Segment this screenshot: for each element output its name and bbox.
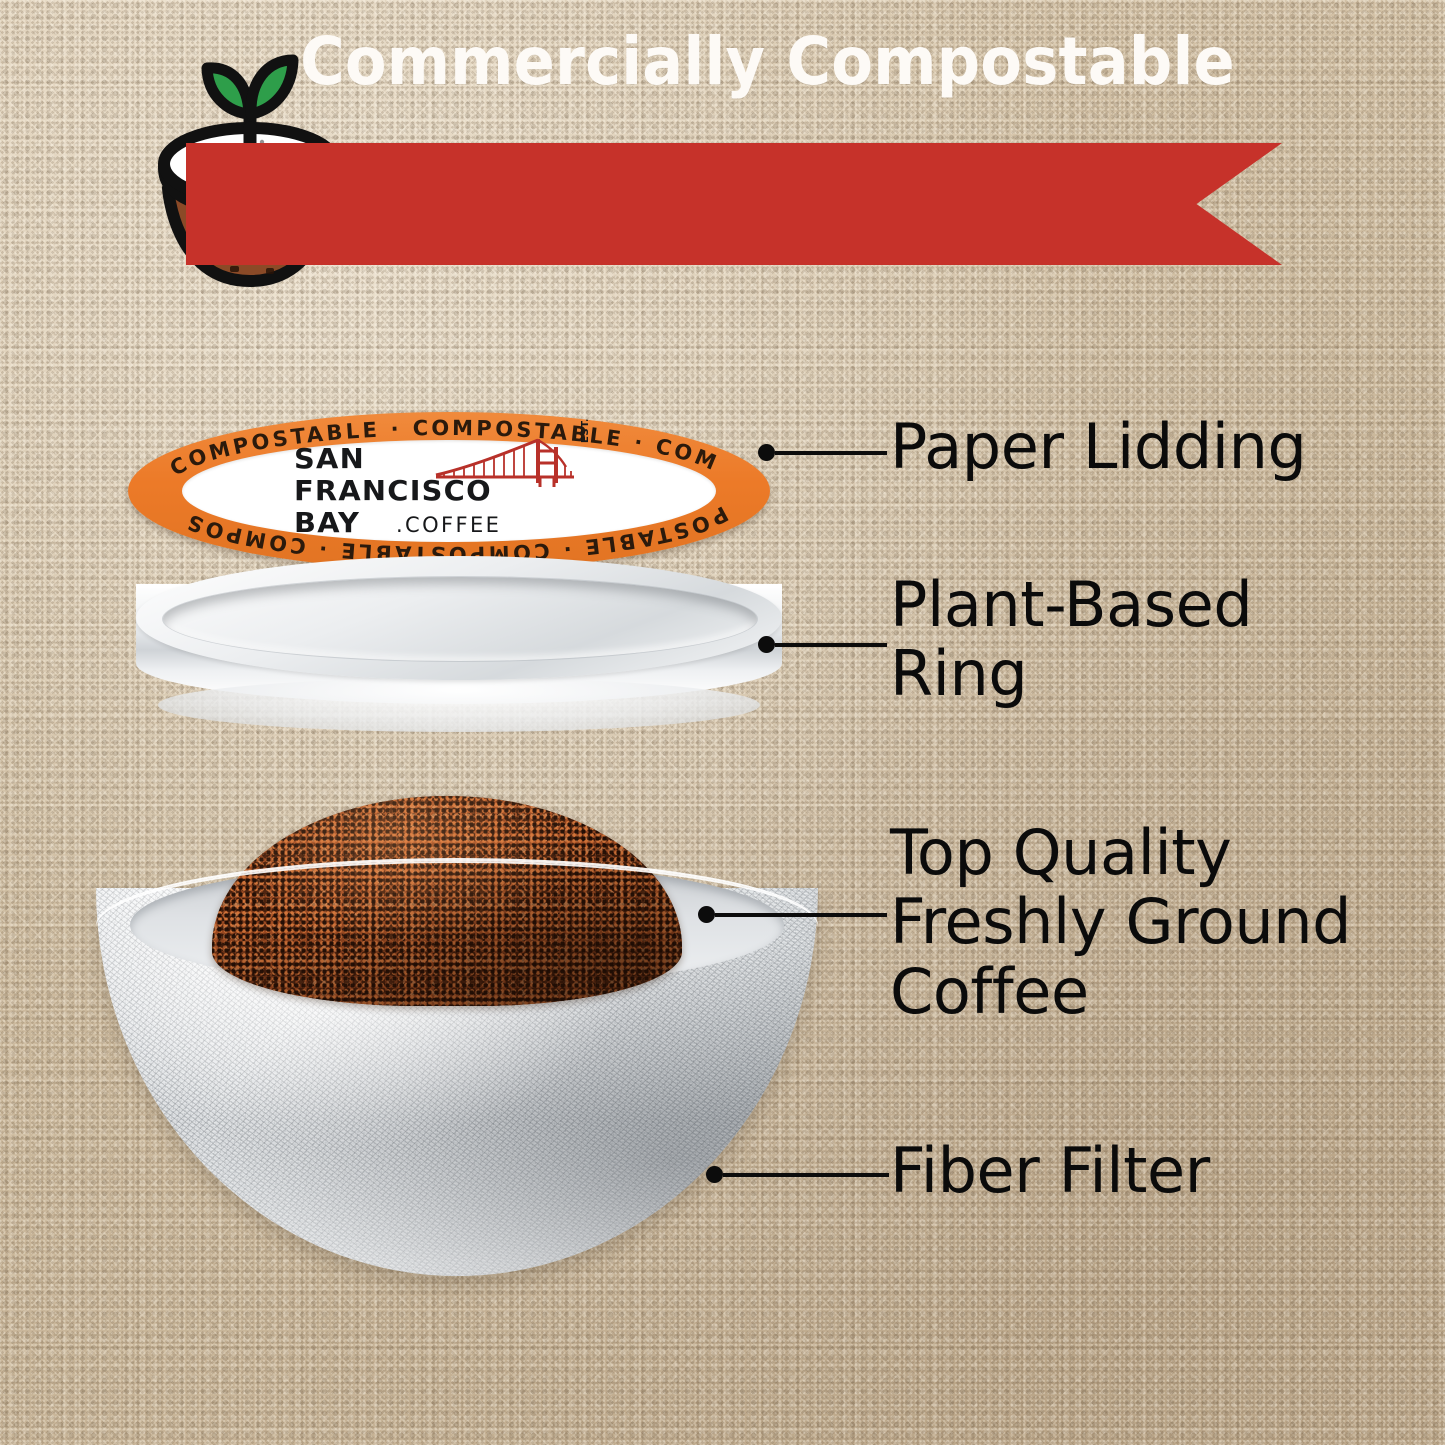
lid-orange-ring: COMPOSTABLE · COMPOSTABLE · COM POSTABLE… (128, 412, 770, 570)
logo-established: EST. 1979 (580, 412, 591, 443)
plant-based-ring (136, 556, 782, 732)
banner-title: Commercially Compostable (233, 0, 1303, 122)
callout-dot-paper-lidding (758, 444, 775, 461)
callout-leader-plant-based-ring (758, 636, 887, 653)
compostable-banner (186, 143, 1282, 265)
callout-line-plant-based-ring (775, 643, 887, 647)
coffee-mound-shading (212, 796, 682, 1006)
callout-line-paper-lidding (775, 451, 887, 455)
callout-label-paper-lidding: Paper Lidding (890, 412, 1306, 481)
callout-dot-plant-based-ring (758, 636, 775, 653)
ring-inner-opening (162, 576, 758, 662)
infographic-canvas: Commercially Compostable COMPOSTABLE · C… (0, 0, 1445, 1445)
ground-coffee-mound (212, 796, 682, 1006)
callout-leader-ground-coffee (698, 906, 887, 923)
callout-line-fiber-filter (723, 1173, 889, 1177)
callout-dot-ground-coffee (698, 906, 715, 923)
callout-dot-fiber-filter (706, 1166, 723, 1183)
logo-line-bay: BAY (294, 509, 360, 537)
banner-ribbon-shape (186, 143, 1282, 265)
logo-line-san: SAN (294, 445, 365, 473)
callout-label-fiber-filter: Fiber Filter (890, 1136, 1210, 1205)
callout-leader-paper-lidding (758, 444, 887, 461)
logo-line-francisco: FRANCISCO (294, 477, 492, 505)
callout-label-ground-coffee: Top Quality Freshly Ground Coffee (890, 818, 1351, 1026)
lid-white-face: SAN FRANCISCO BAY .COFFEE EST. 1979 (182, 440, 716, 543)
callout-line-ground-coffee (715, 913, 887, 917)
fiber-filter-assembly (96, 796, 818, 1276)
callout-leader-fiber-filter (706, 1166, 889, 1183)
ring-bottom-shading (158, 678, 760, 732)
san-francisco-bay-coffee-logo: SAN FRANCISCO BAY .COFFEE EST. 1979 (284, 437, 614, 545)
logo-suffix-coffee: .COFFEE (396, 513, 501, 537)
callout-label-plant-based-ring: Plant-Based Ring (890, 570, 1252, 709)
paper-lid-disc: COMPOSTABLE · COMPOSTABLE · COM POSTABLE… (128, 412, 770, 570)
